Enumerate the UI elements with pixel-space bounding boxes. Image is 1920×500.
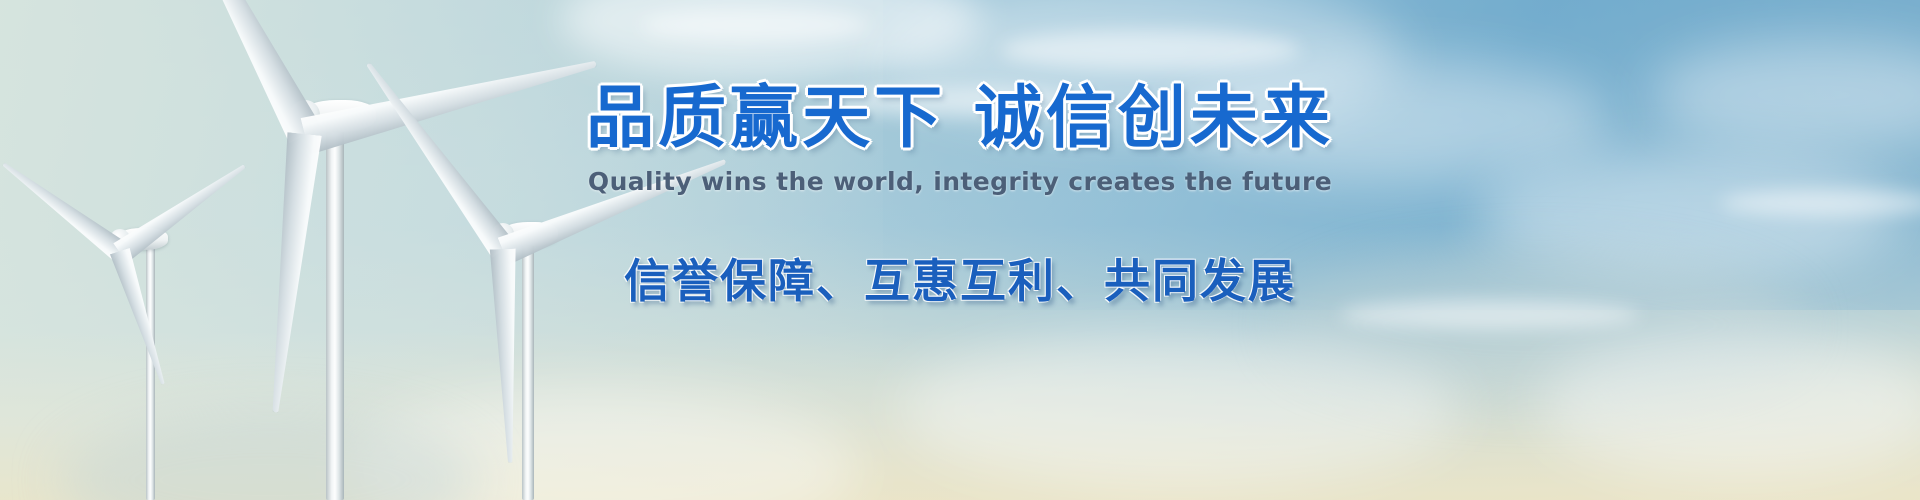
promo-banner: 品质赢天下 诚信创未来 Quality wins the world, inte… [0, 0, 1920, 500]
banner-text-block: 品质赢天下 诚信创未来 Quality wins the world, inte… [0, 0, 1920, 500]
banner-subtitle: Quality wins the world, integrity create… [0, 167, 1920, 196]
banner-tagline: 信誉保障、互惠互利、共同发展 [0, 245, 1920, 311]
banner-headline: 品质赢天下 诚信创未来 [0, 62, 1920, 161]
